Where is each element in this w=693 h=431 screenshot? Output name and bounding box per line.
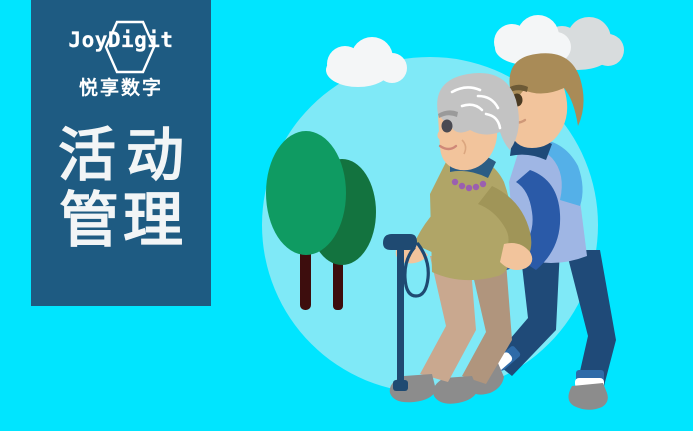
- logo-subtitle: 悦享数字: [79, 79, 163, 98]
- poster-title-line-1: 活动: [31, 124, 211, 187]
- man-back-shoe: [568, 383, 607, 410]
- poster-title-line-2: 管理: [31, 189, 211, 254]
- poster-canvas: JoyDigit 悦享数字 活动 管理: [0, 0, 693, 431]
- poster-title: 活动 管理: [31, 124, 211, 253]
- brand-panel: JoyDigit 悦享数字 活动 管理: [31, 0, 211, 306]
- cane-handle: [383, 234, 417, 250]
- cane-tip: [393, 380, 408, 391]
- logo-wordmark: JoyDigit: [56, 30, 186, 51]
- woman-eye: [442, 120, 453, 133]
- logo-block: JoyDigit: [56, 24, 186, 70]
